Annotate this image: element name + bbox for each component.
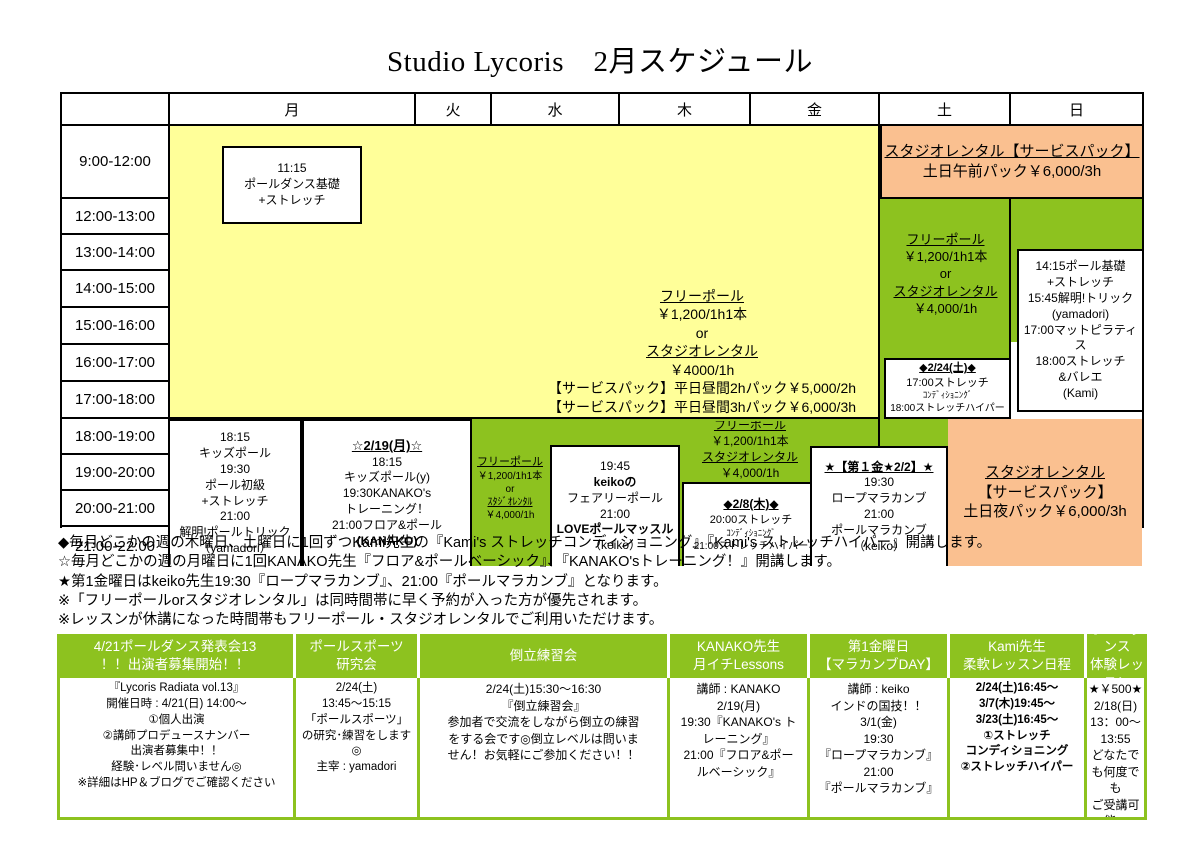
fri-evening-line2: 19:30: [864, 475, 894, 491]
note-line-4: ※「フリーポールorスタジオレンタル」は同時間帯に早く予約が入った方が優先されま…: [58, 592, 1148, 611]
weekend-morning-rental-block: スタジオレンタル【サービスパック】 土日午前パック￥6,000/3h: [880, 126, 1142, 199]
page-title: Studio Lycoris 2月スケジュール: [0, 38, 1200, 80]
time-row-1500-1600: 15:00-16:00: [62, 308, 170, 345]
day-header-sun: 日: [1011, 94, 1142, 126]
time-row-1900-2000: 19:00-20:00: [62, 455, 170, 491]
thu-0208-line2: 20:00ストレッチ: [710, 513, 793, 528]
info-header-recital: 4/21ポールダンス発表会13 ！！出演者募集開始！！: [57, 634, 296, 678]
tue-evening-line4: 19:30KANAKO's: [343, 486, 431, 502]
info-body-pole-sports: 2/24(土) 13:45〜15:15 「ポールスポーツ」 の研究･練習をします…: [296, 678, 420, 820]
info-header-trial-lesson: ポールダンス 体験レッスン: [1087, 634, 1147, 678]
info-body-kami-flex: 2/24(土)16:45〜 3/7(木)19:45〜 3/23(土)16:45〜…: [950, 678, 1087, 820]
info-table: 4/21ポールダンス発表会13 ！！出演者募集開始！！ ポールスポーツ 研究会 …: [57, 634, 1147, 820]
tue-evening-line3: キッズポール(y): [344, 470, 430, 486]
schedule-table: 月 火 水 木 金 土 日 9:00-12:00 12:00-13:00 13:…: [60, 92, 1144, 528]
tue-evening-line6: 21:00フロア&ポール: [332, 518, 442, 534]
time-row-2000-2100: 20:00-21:00: [62, 491, 170, 527]
sat-free-line2: ￥1,200/1h1本: [904, 248, 988, 265]
weekday-free-line7: 【サービスパック】平日昼間3hパック￥6,000/3h: [548, 398, 856, 416]
sat-free-line1: フリーポール: [906, 231, 984, 248]
wed-free-line4: ｽﾀｼﾞｵﾚﾝﾀﾙ: [488, 496, 533, 509]
info-body-recital: 『Lycoris Radiata vol.13』 開催日時 : 4/21(日) …: [57, 678, 296, 820]
day-header-sat: 土: [880, 94, 1011, 126]
mon-morning-class-block: 11:15 ポールダンス基礎 +ストレッチ: [222, 146, 362, 224]
tue-evening-line5: トレーニング！: [345, 502, 429, 518]
mon-morning-class-text: 11:15 ポールダンス基礎 +ストレッチ: [244, 161, 340, 208]
info-header-pole-sports: ポールスポーツ 研究会: [296, 634, 420, 678]
weekday-free-line2: ￥1,200/1h1本: [657, 305, 747, 323]
note-line-2: ☆毎月どこかの週の月曜日に1回KANAKO先生『フロア&ポールベーシック』、『K…: [58, 553, 1148, 572]
sun-afternoon-class-text: 14:15ポール基礎 +ストレッチ 15:45解明!トリック (yamadori…: [1019, 259, 1142, 401]
sat-0224-line4: 18:00ストレッチハイパー: [890, 402, 1005, 415]
fri-evening-line1: ★【第１金★2/2】★: [825, 460, 934, 476]
thu-free-line2: ￥1,200/1h1本: [711, 434, 788, 450]
sat-0224-event-block: ◆2/24(土)◆ 17:00ストレッチ ｺﾝﾃﾞｨｼｮﾆﾝｸﾞ 18:00スト…: [884, 358, 1011, 419]
wed-evening-free-pool-block: フリーポール ￥1,200/1h1本 or ｽﾀｼﾞｵﾚﾝﾀﾙ ￥4,000/1…: [473, 444, 547, 534]
time-row-1700-1800: 17:00-18:00: [62, 382, 170, 419]
schedule-corner-cell: [62, 94, 170, 126]
weekday-free-line6: 【サービスパック】平日昼間2hパック￥5,000/2h: [548, 379, 856, 397]
note-line-1: ◆毎月どこかの週の木曜日、土曜日に1回ずつKami先生の『Kami's ストレッ…: [58, 534, 1148, 553]
wed-class-line4: 21:00: [600, 507, 630, 523]
wed-class-line3: フェアリーポール: [567, 491, 663, 507]
info-header-malkhamb-day: 第1金曜日 【マラカンブDAY】: [810, 634, 950, 678]
thu-0208-line1: ◆2/8(木)◆: [723, 497, 778, 513]
time-row-1200-1300: 12:00-13:00: [62, 199, 170, 235]
sat-free-line5: ￥4,000/1h: [914, 300, 978, 317]
sat-0224-line3: ｺﾝﾃﾞｨｼｮﾆﾝｸﾞ: [923, 390, 973, 402]
notes-section: ◆毎月どこかの週の木曜日、土曜日に1回ずつKami先生の『Kami's ストレッ…: [58, 534, 1148, 630]
sat-free-line3: or: [940, 265, 952, 282]
weekday-free-line5: ￥4000/1h: [670, 361, 735, 379]
weekday-free-line4: スタジオレンタル: [646, 342, 758, 360]
weekend-night-line1: スタジオレンタル: [985, 463, 1105, 483]
sun-afternoon-class-block: 14:15ポール基礎 +ストレッチ 15:45解明!トリック (yamadori…: [1017, 249, 1142, 412]
tue-evening-line2: 18:15: [372, 455, 402, 471]
time-row-1600-1700: 16:00-17:00: [62, 345, 170, 382]
time-row-1300-1400: 13:00-14:00: [62, 235, 170, 271]
day-header-fri: 金: [751, 94, 880, 126]
fri-evening-line4: 21:00: [864, 507, 894, 523]
sat-daytime-free-pool-block: フリーポール ￥1,200/1h1本 or スタジオレンタル ￥4,000/1h: [882, 224, 1009, 324]
day-header-thu: 木: [620, 94, 751, 126]
wed-free-line5: ￥4,000/1h: [486, 509, 535, 522]
weekday-free-line3: or: [696, 324, 708, 342]
weekday-free-pool-block: フリーポール ￥1,200/1h1本 or スタジオレンタル ￥4000/1h …: [482, 279, 922, 424]
wed-free-line2: ￥1,200/1h1本: [478, 470, 543, 483]
info-header-kanako-lessons: KANAKO先生 月イチLessons: [670, 634, 810, 678]
weekend-morning-rental-line1: スタジオレンタル【サービスパック】: [884, 142, 1139, 162]
wed-class-line1: 19:45: [600, 459, 630, 475]
fri-evening-line3: ロープマラカンブ: [832, 491, 927, 507]
info-body-malkhamb-day: 講師 : keiko インドの国技！！ 3/1(金) 19:30 『ロープマラカ…: [810, 678, 950, 820]
day-header-tue: 火: [416, 94, 492, 126]
info-body-trial-lesson: ★￥500★ 2/18(日) 13：00〜13:55 どなたでも何度でも ご受講…: [1087, 678, 1147, 820]
sat-0224-line1: ◆2/24(土)◆: [919, 361, 976, 376]
weekend-night-line3: 土日夜パック￥6,000/3h: [963, 502, 1126, 522]
info-body-kanako-lessons: 講師 : KANAKO 2/19(月) 19:30『KANAKO's ト レーニ…: [670, 678, 810, 820]
thu-free-line4: ￥4,000/1h: [721, 466, 780, 479]
wed-free-line1: フリーポール: [477, 455, 543, 470]
weekday-free-line1: フリーポール: [660, 287, 744, 305]
weekend-night-line2: 【サービスパック】: [977, 483, 1112, 503]
wed-free-line3: or: [506, 483, 515, 496]
time-row-1800-1900: 18:00-19:00: [62, 419, 170, 455]
info-header-kami-flex: Kami先生 柔軟レッスン日程: [950, 634, 1087, 678]
thu-free-line1: フリーポール: [714, 421, 786, 434]
sat-free-line4: スタジオレンタル: [893, 283, 997, 300]
wed-class-line2: keikoの: [594, 475, 637, 491]
day-header-wed: 水: [492, 94, 620, 126]
time-row-0900-1200: 9:00-12:00: [62, 126, 170, 199]
sat-0224-line2: 17:00ストレッチ: [906, 376, 989, 391]
info-body-handstand: 2/24(土)15:30〜16:30 『倒立練習会』 参加者で交流をしながら倒立…: [420, 678, 670, 820]
thu-free-line3: スタジオレンタル: [702, 450, 798, 466]
note-line-3: ★第1金曜日はkeiko先生19:30『ロープマラカンブ』、21:00『ポールマ…: [58, 573, 1148, 592]
thu-evening-free-pool-block: フリーポール ￥1,200/1h1本 スタジオレンタル ￥4,000/1h: [680, 421, 820, 479]
tue-evening-line1: ☆2/19(月)☆: [352, 437, 422, 454]
day-header-mon: 月: [170, 94, 416, 126]
note-line-5: ※レッスンが休講になった時間帯もフリーポール・スタジオレンタルでご利用いただけま…: [58, 611, 1148, 630]
time-row-1400-1500: 14:00-15:00: [62, 271, 170, 308]
info-header-handstand: 倒立練習会: [420, 634, 670, 678]
weekend-morning-rental-line2: 土日午前パック￥6,000/3h: [923, 162, 1101, 182]
